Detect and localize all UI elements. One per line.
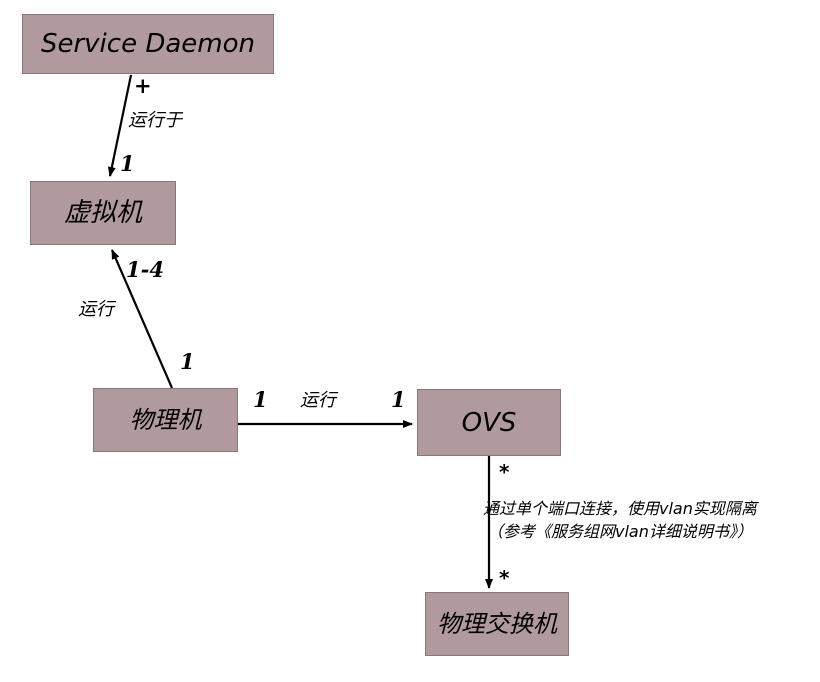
edge-host-to-vm-target-multiplicity: 1-4	[126, 258, 164, 282]
node-virtual-machine-label: 虚拟机	[64, 200, 142, 226]
edge-host-to-vm-source-multiplicity: 1	[180, 350, 195, 374]
edge-host-to-ovs-verb: 运行	[300, 391, 336, 412]
node-physical-switch-label: 物理交换机	[437, 612, 557, 636]
edge-ovs-to-switch-note-line-2: （参考《服务组网vlan详细说明书》）	[483, 520, 757, 543]
edge-ovs-to-switch-note-line-1: 通过单个端口连接，使用vlan实现隔离	[483, 497, 757, 520]
edge-ovs-to-switch-target-multiplicity: *	[499, 567, 509, 590]
edge-layer	[0, 0, 820, 682]
node-ovs-label: OVS	[462, 410, 517, 436]
node-physical-switch[interactable]: 物理交换机	[425, 592, 569, 656]
node-physical-host-label: 物理机	[130, 408, 202, 432]
node-virtual-machine[interactable]: 虚拟机	[30, 181, 176, 245]
node-service-daemon-label: Service Daemon	[41, 31, 255, 57]
node-physical-host[interactable]: 物理机	[93, 388, 238, 452]
edge-host-to-ovs-target-multiplicity: 1	[391, 388, 406, 412]
edge-host-to-ovs-source-multiplicity: 1	[253, 388, 268, 412]
edge-daemon-to-vm-target-multiplicity: 1	[120, 152, 135, 176]
node-service-daemon[interactable]: Service Daemon	[22, 14, 274, 74]
edge-ovs-to-switch-source-multiplicity: *	[499, 461, 509, 484]
diagram-canvas: Service Daemon 虚拟机 物理机 OVS 物理交换机 + 运行于 1…	[0, 0, 820, 682]
edge-ovs-to-switch-note: 通过单个端口连接，使用vlan实现隔离 （参考《服务组网vlan详细说明书》）	[483, 497, 757, 543]
edge-daemon-to-vm-source-multiplicity: +	[134, 74, 152, 98]
node-ovs[interactable]: OVS	[417, 389, 561, 456]
edge-daemon-to-vm-verb: 运行于	[128, 111, 182, 132]
edge-host-to-vm-verb: 运行	[78, 300, 114, 321]
